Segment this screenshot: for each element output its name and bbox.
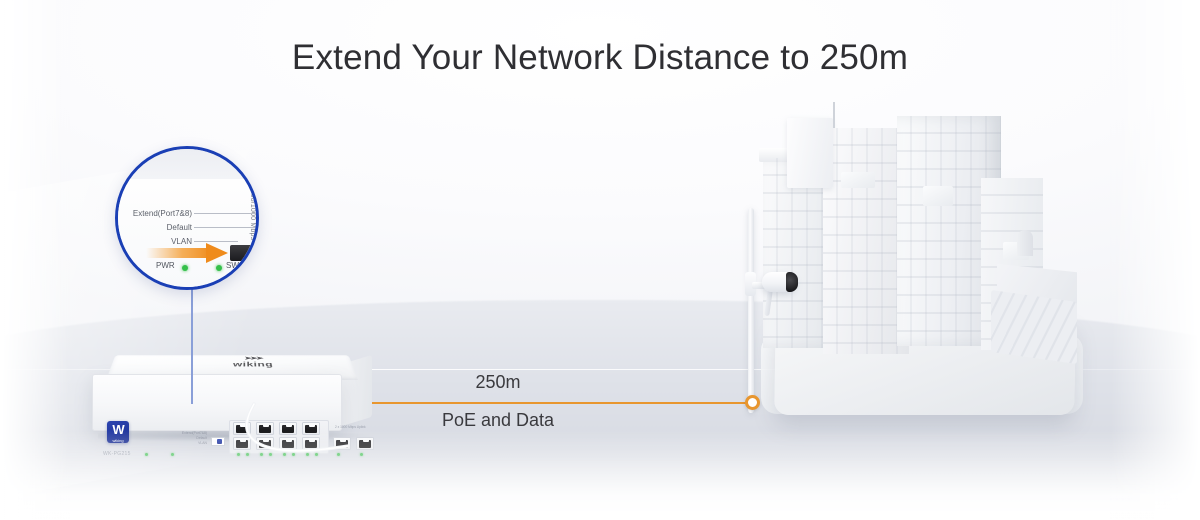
switch-brand-name: wiking — [233, 361, 274, 368]
glass-roof-icon — [991, 290, 1077, 364]
magnified-power-led — [182, 265, 188, 271]
roof-duct-icon — [1017, 230, 1033, 256]
leader-extend — [194, 213, 259, 214]
camera-lens-icon — [786, 272, 798, 292]
magnified-label-default: Default — [115, 223, 192, 232]
link-distance-label: 250m — [418, 372, 578, 393]
antenna-icon — [833, 102, 835, 128]
link-type-label: PoE and Data — [398, 410, 598, 431]
city-buildings-icon — [745, 120, 1075, 420]
right-fade — [1110, 0, 1200, 520]
switch-brand-top: ➤➤➤ wiking — [209, 357, 297, 368]
page-title: Extend Your Network Distance to 250m — [0, 38, 1200, 78]
mounting-pole-icon — [748, 208, 754, 413]
rooftop-tower — [787, 118, 833, 188]
rooftop-unit-1 — [841, 172, 875, 188]
magnified-switch-led — [216, 265, 222, 271]
magnifier-device-panel — [115, 179, 259, 287]
link-endpoint-camera-icon — [745, 395, 760, 410]
magnifier-device-top — [115, 149, 259, 179]
magnified-power-led-label: PWR — [156, 261, 175, 270]
scene-stage: Extend Your Network Distance to 250m — [0, 0, 1200, 520]
bottom-fade — [0, 430, 1200, 520]
rooftop-unit-2 — [923, 186, 953, 206]
magnified-label-extend: Extend(Port7&8) — [115, 209, 192, 218]
magnified-port-note: 8 x 10/100/1000 Mbps PoE — [249, 167, 256, 256]
left-fade — [0, 0, 70, 520]
magnified-switch-led-label: SW — [226, 261, 239, 270]
magnifier-leader-line — [191, 286, 193, 404]
magnifier-callout: 8 x 10/100/1000 Mbps PoE Extend(Port7&8)… — [115, 146, 259, 290]
leader-default — [194, 227, 259, 228]
